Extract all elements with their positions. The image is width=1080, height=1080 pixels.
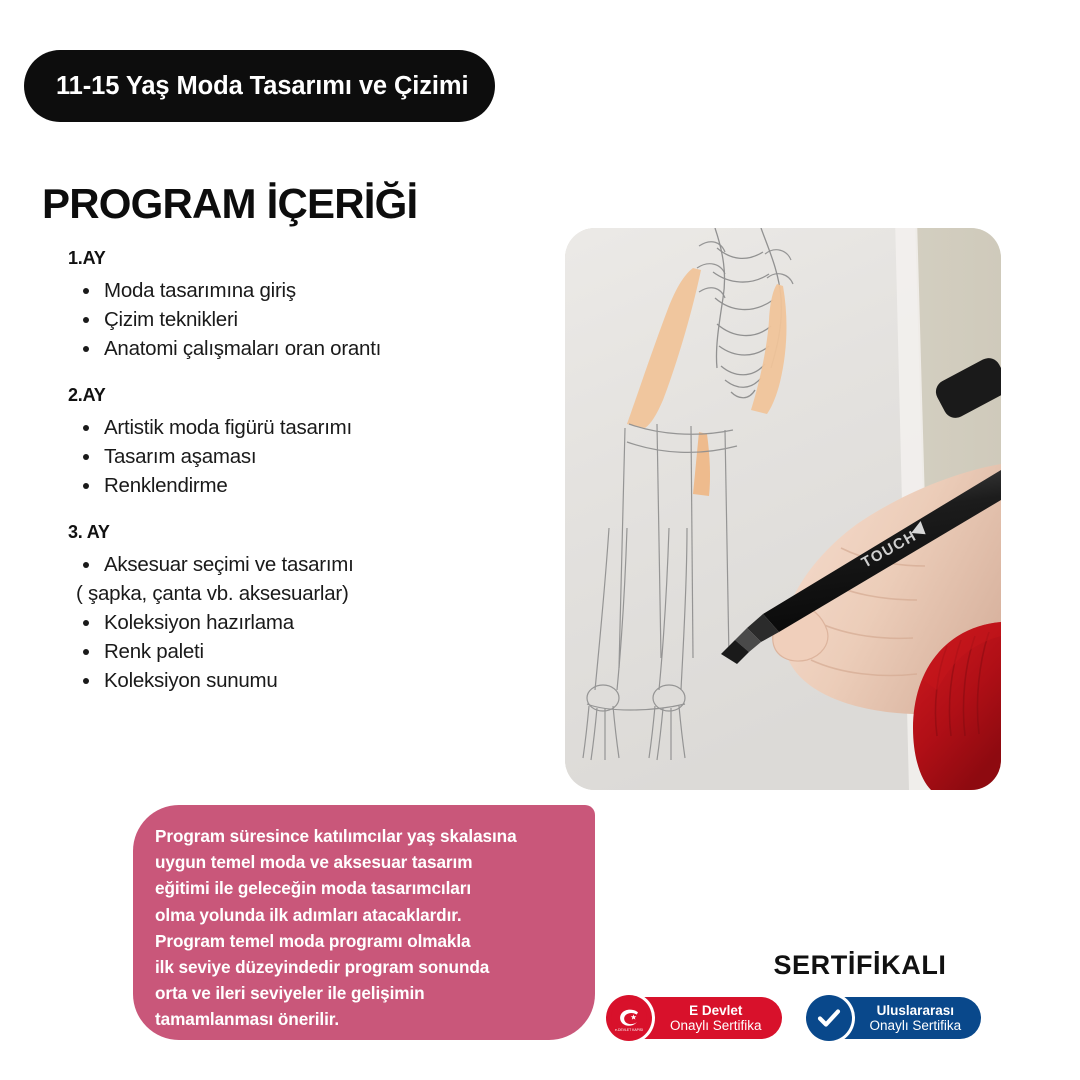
list-item: Koleksiyon hazırlama xyxy=(68,608,538,637)
list-item: Tasarım aşaması xyxy=(68,442,538,471)
svg-text:e-DEVLET KAPISI: e-DEVLET KAPISI xyxy=(615,1028,643,1032)
month-topic-list: Artistik moda figürü tasarımı Tasarım aş… xyxy=(68,413,538,500)
fashion-sketch-photo: TOUCH xyxy=(565,228,1001,790)
list-item: Renk paleti xyxy=(68,637,538,666)
certificates-heading: SERTİFİKALI xyxy=(700,950,1020,981)
month-block-1: 1.AY Moda tasarımına giriş Çizim teknikl… xyxy=(68,248,538,363)
program-content-list: 1.AY Moda tasarımına giriş Çizim teknikl… xyxy=(68,248,538,717)
photo-illustration: TOUCH xyxy=(565,228,1001,790)
badge-edevlet: e-DEVLET KAPISI E Devlet Onaylı Sertifik… xyxy=(606,995,782,1041)
poster-canvas: 11-15 Yaş Moda Tasarımı ve Çizimi PROGRA… xyxy=(0,0,1080,1080)
month-block-3: 3. AY Aksesuar seçimi ve tasarımı ( şapk… xyxy=(68,522,538,695)
certificates-section: SERTİFİKALI e-DEVLET KAPISI E Devlet Ona… xyxy=(600,950,1020,981)
badge-line-2: Onaylı Sertifika xyxy=(670,1018,762,1034)
month-topic-list: Moda tasarımına giriş Çizim teknikleri A… xyxy=(68,276,538,363)
program-note-text: Program süresince katılımcılar yaş skala… xyxy=(155,823,569,1033)
month-topic-list: Aksesuar seçimi ve tasarımı ( şapka, çan… xyxy=(68,550,538,695)
list-item: Renklendirme xyxy=(68,471,538,500)
list-item: Artistik moda figürü tasarımı xyxy=(68,413,538,442)
page-title: PROGRAM İÇERİĞİ xyxy=(42,180,417,228)
list-item: Koleksiyon sunumu xyxy=(68,666,538,695)
badge-line-1: E Devlet xyxy=(689,1003,742,1018)
certificate-badges: e-DEVLET KAPISI E Devlet Onaylı Sertifik… xyxy=(606,995,981,1041)
badge-international: Uluslararası Onaylı Sertifika xyxy=(806,995,982,1041)
course-title-text: 11-15 Yaş Moda Tasarımı ve Çizimi xyxy=(56,72,468,101)
list-item: Anatomi çalışmaları oran orantı xyxy=(68,334,538,363)
month-title: 1.AY xyxy=(68,248,538,269)
check-icon xyxy=(806,995,852,1041)
list-item: Aksesuar seçimi ve tasarımı xyxy=(68,550,538,579)
list-item: Çizim teknikleri xyxy=(68,305,538,334)
month-title: 3. AY xyxy=(68,522,538,543)
course-title-badge: 11-15 Yaş Moda Tasarımı ve Çizimi xyxy=(24,50,495,122)
badge-line-2: Onaylı Sertifika xyxy=(870,1018,962,1034)
program-note-box: Program süresince katılımcılar yaş skala… xyxy=(133,805,595,1040)
badge-line-1: Uluslararası xyxy=(877,1003,954,1018)
month-title: 2.AY xyxy=(68,385,538,406)
month-block-2: 2.AY Artistik moda figürü tasarımı Tasar… xyxy=(68,385,538,500)
list-item: Moda tasarımına giriş xyxy=(68,276,538,305)
edevlet-logo-icon: e-DEVLET KAPISI xyxy=(606,995,652,1041)
list-item-continuation: ( şapka, çanta vb. aksesuarlar) xyxy=(68,579,538,608)
